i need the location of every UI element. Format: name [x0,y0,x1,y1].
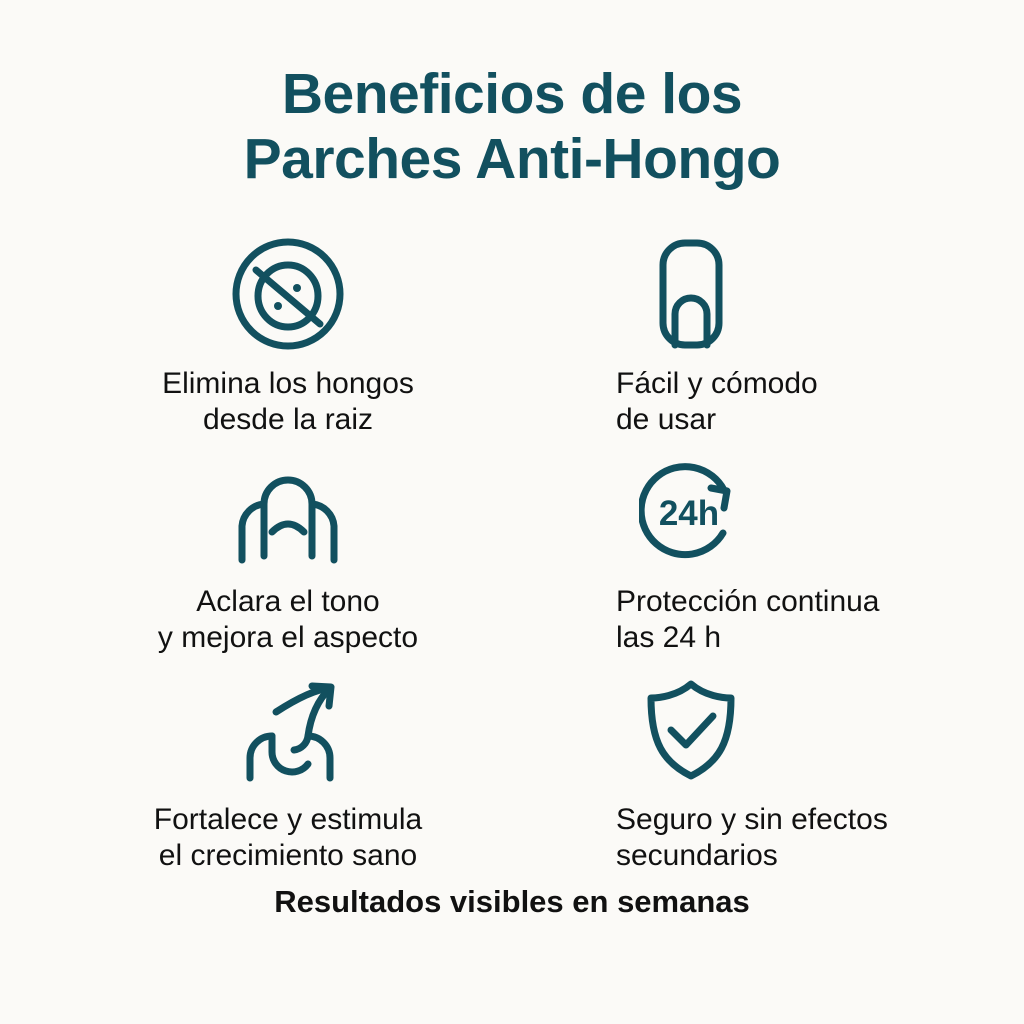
benefits-infographic: Beneficios de los Parches Anti-Hongo Eli… [0,0,1024,1024]
footer-tagline: Resultados visibles en semanas [274,884,750,920]
page-title: Beneficios de los Parches Anti-Hongo [244,62,781,192]
benefit-item-seguro-sin-efectos: Seguro y sin efectos secundarios [512,664,960,882]
benefit-caption: Aclara el tono y mejora el aspecto [158,584,418,656]
benefits-grid: Elimina los hongos desde la raiz Fácil y… [64,228,960,882]
benefit-caption: Fortalece y estimula el crecimiento sano [154,802,422,874]
benefit-item-facil-comodo: Fácil y cómodo de usar [512,228,960,446]
fingernail-icon [228,456,348,568]
nail-patch-icon [616,238,766,350]
title-line-1: Beneficios de los [244,62,781,127]
24h-icon-label: 24h [659,494,719,533]
24h-cycle-icon: 24h [616,456,766,568]
no-fungus-icon [230,238,346,350]
benefit-caption: Elimina los hongos desde la raiz [162,366,414,438]
benefit-caption: Seguro y sin efectos secundarios [616,802,888,874]
title-line-2: Parches Anti-Hongo [244,127,781,192]
benefit-caption: Fácil y cómodo de usar [616,366,818,438]
benefit-caption: Protección continua las 24 h [616,584,880,656]
benefit-item-proteccion-24h: 24h Protección continua las 24 h [512,446,960,664]
benefit-item-elimina-hongos: Elimina los hongos desde la raiz [64,228,512,446]
benefit-item-aclara-tono: Aclara el tono y mejora el aspecto [64,446,512,664]
benefit-item-fortalece-crecimiento: Fortalece y estimula el crecimiento sano [64,664,512,882]
nail-growth-arrow-icon [228,674,348,786]
shield-check-icon [616,674,766,786]
